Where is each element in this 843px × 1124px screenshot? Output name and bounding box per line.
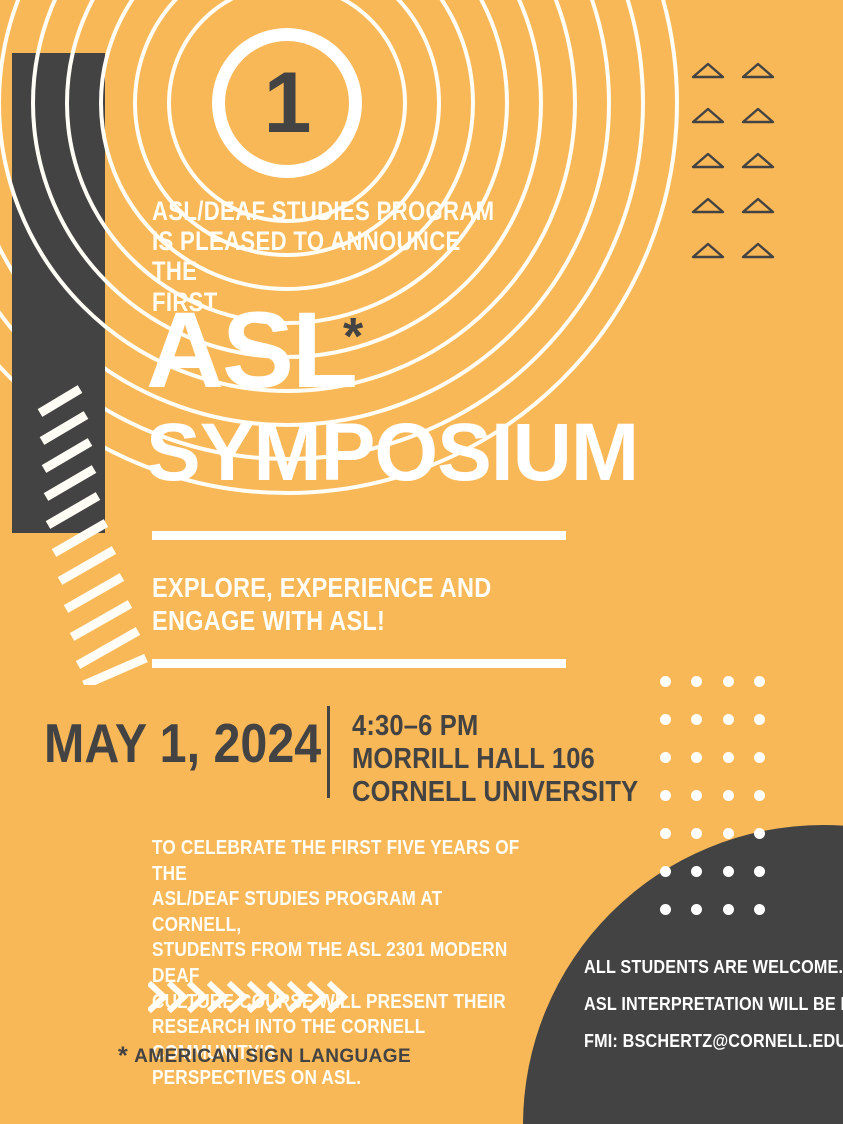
title-symposium: SYMPOSIUM xyxy=(146,412,638,494)
note-line-2: ASL INTERPRETATION WILL BE PROVIDED. xyxy=(584,994,809,1015)
event-venue: MORRILL HALL 106 xyxy=(352,743,616,776)
footnote-american-sign-language: *AMERICAN SIGN LANGUAGE xyxy=(118,1042,411,1071)
event-time: 4:30–6 PM xyxy=(352,710,616,743)
eyebrow-line-2: IS PLEASED TO ANNOUNCE THE xyxy=(152,226,505,286)
footnote-label: AMERICAN SIGN LANGUAGE xyxy=(134,1046,411,1067)
footnote-asterisk: * xyxy=(118,1042,128,1070)
event-details: 4:30–6 PM MORRILL HALL 106 CORNELL UNIVE… xyxy=(352,710,616,809)
eyebrow-line-1: ASL/DEAF STUDIES PROGRAM xyxy=(152,196,505,226)
divider-rule-top xyxy=(152,531,566,540)
description-line-2: ASL/DEAF STUDIES PROGRAM AT CORNELL, xyxy=(152,887,522,938)
date-venue-divider xyxy=(327,706,330,798)
notes-block: ALL STUDENTS ARE WELCOME. ASL INTERPRETA… xyxy=(584,957,809,1068)
poster-canvas: 1 ASL/DEAF STUDIES PROGRAM IS PLEASED TO… xyxy=(0,0,843,1124)
divider-rule-bottom xyxy=(152,659,566,668)
chevron-row-decoration xyxy=(148,980,358,1014)
tagline-line-1: EXPLORE, EXPERIENCE AND xyxy=(152,571,505,604)
event-institution: CORNELL UNIVERSITY xyxy=(352,776,616,809)
title-asterisk: * xyxy=(343,311,363,363)
note-line-3: FMI: BSCHERTZ@CORNELL.EDU xyxy=(584,1031,809,1052)
title-asl: ASL xyxy=(146,296,356,404)
tagline-text: EXPLORE, EXPERIENCE AND ENGAGE WITH ASL! xyxy=(152,571,505,637)
note-line-1: ALL STUDENTS ARE WELCOME. xyxy=(584,957,809,978)
event-date: MAY 1, 2024 xyxy=(44,716,321,771)
description-line-1: TO CELEBRATE THE FIRST FIVE YEARS OF THE xyxy=(152,836,522,887)
poster-content: ASL/DEAF STUDIES PROGRAM IS PLEASED TO A… xyxy=(0,0,843,1124)
tagline-line-2: ENGAGE WITH ASL! xyxy=(152,604,505,637)
